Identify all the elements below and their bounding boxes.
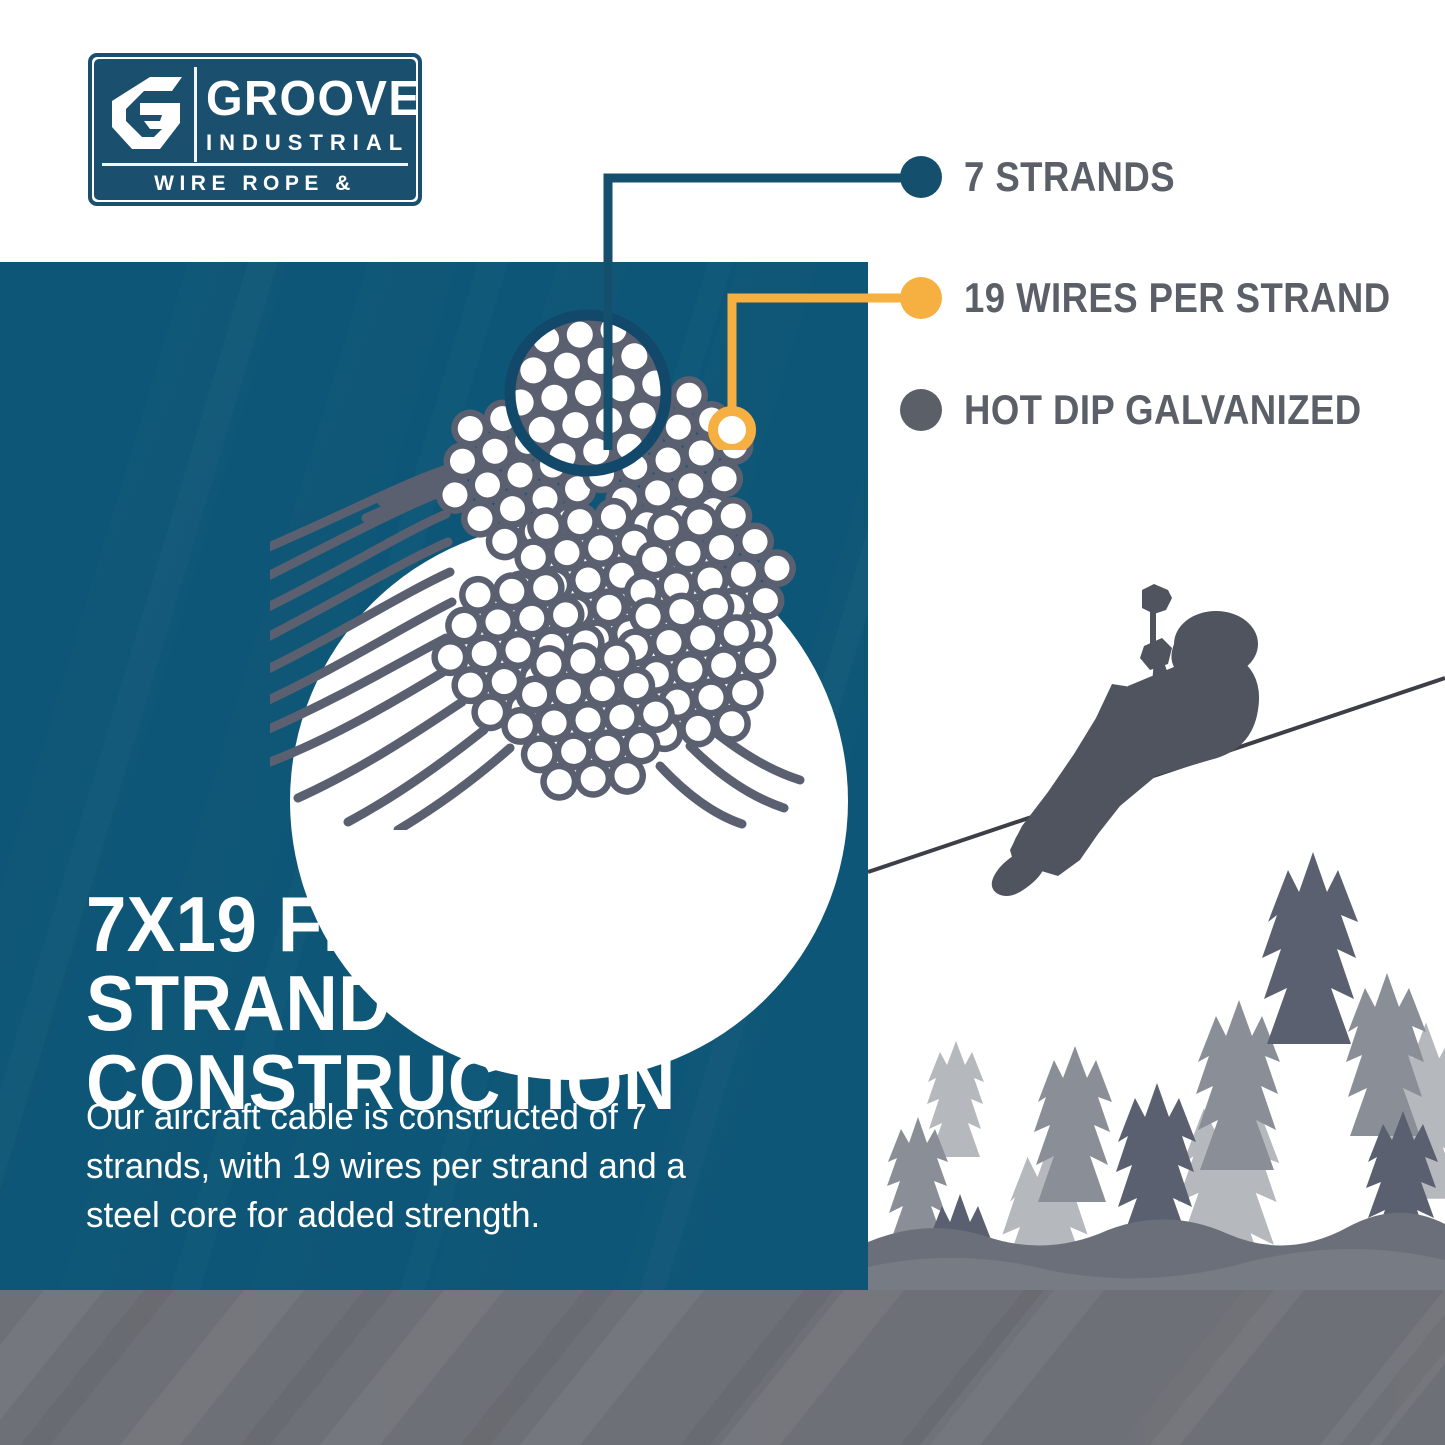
infographic-canvas: GROOVE INDUSTRIAL WIRE ROPE & RIGGING: [0, 0, 1445, 1445]
callout-19-wires-per-strand[interactable]: 19 WIRES PER STRAND: [900, 277, 1445, 319]
logo-fill: GROOVE INDUSTRIAL WIRE ROPE & RIGGING: [94, 59, 416, 200]
callout-hot-dip-galvanized[interactable]: HOT DIP GALVANIZED: [900, 389, 1421, 431]
trolley-strap: [1150, 606, 1156, 646]
rider-silhouette: [992, 584, 1259, 896]
body-copy: Our aircraft cable is constructed of 7 s…: [86, 1092, 726, 1239]
footer-stripe-texture: [0, 1290, 1445, 1445]
logo-wordmark: GROOVE: [206, 69, 400, 129]
trolley-icon: [1142, 584, 1172, 614]
callout-dot-navy: [900, 156, 942, 198]
logo-divider-vertical: [194, 67, 197, 162]
torso-and-legs: [1032, 650, 1259, 876]
connector-navy: [608, 178, 928, 450]
headline-line-1: 7X19 FLEXIBLE: [86, 880, 632, 968]
logo-divider-horizontal: [102, 163, 408, 166]
connector-amber: [732, 298, 928, 430]
connector-amber-anchor-ring: [713, 411, 751, 449]
logo-tagline: WIRE ROPE & RIGGING: [102, 167, 408, 201]
groove-g-monogram-icon: [110, 75, 184, 153]
callout-dot-gray: [900, 389, 942, 431]
callout-dot-amber: [900, 277, 942, 319]
page-title: 7X19 FLEXIBLE STRAND CONSTRUCTION: [86, 885, 793, 1122]
callout-label-strands: 7 STRANDS: [964, 156, 1175, 198]
footer-band: [0, 1290, 1445, 1445]
callout-label-wires: 19 WIRES PER STRAND: [964, 277, 1391, 319]
callout-7-strands[interactable]: 7 STRANDS: [900, 156, 1207, 198]
callout-label-galvanized: HOT DIP GALVANIZED: [964, 389, 1362, 431]
logo-sub-wordmark: INDUSTRIAL: [206, 129, 408, 157]
brand-logo: GROOVE INDUSTRIAL WIRE ROPE & RIGGING: [88, 53, 422, 206]
